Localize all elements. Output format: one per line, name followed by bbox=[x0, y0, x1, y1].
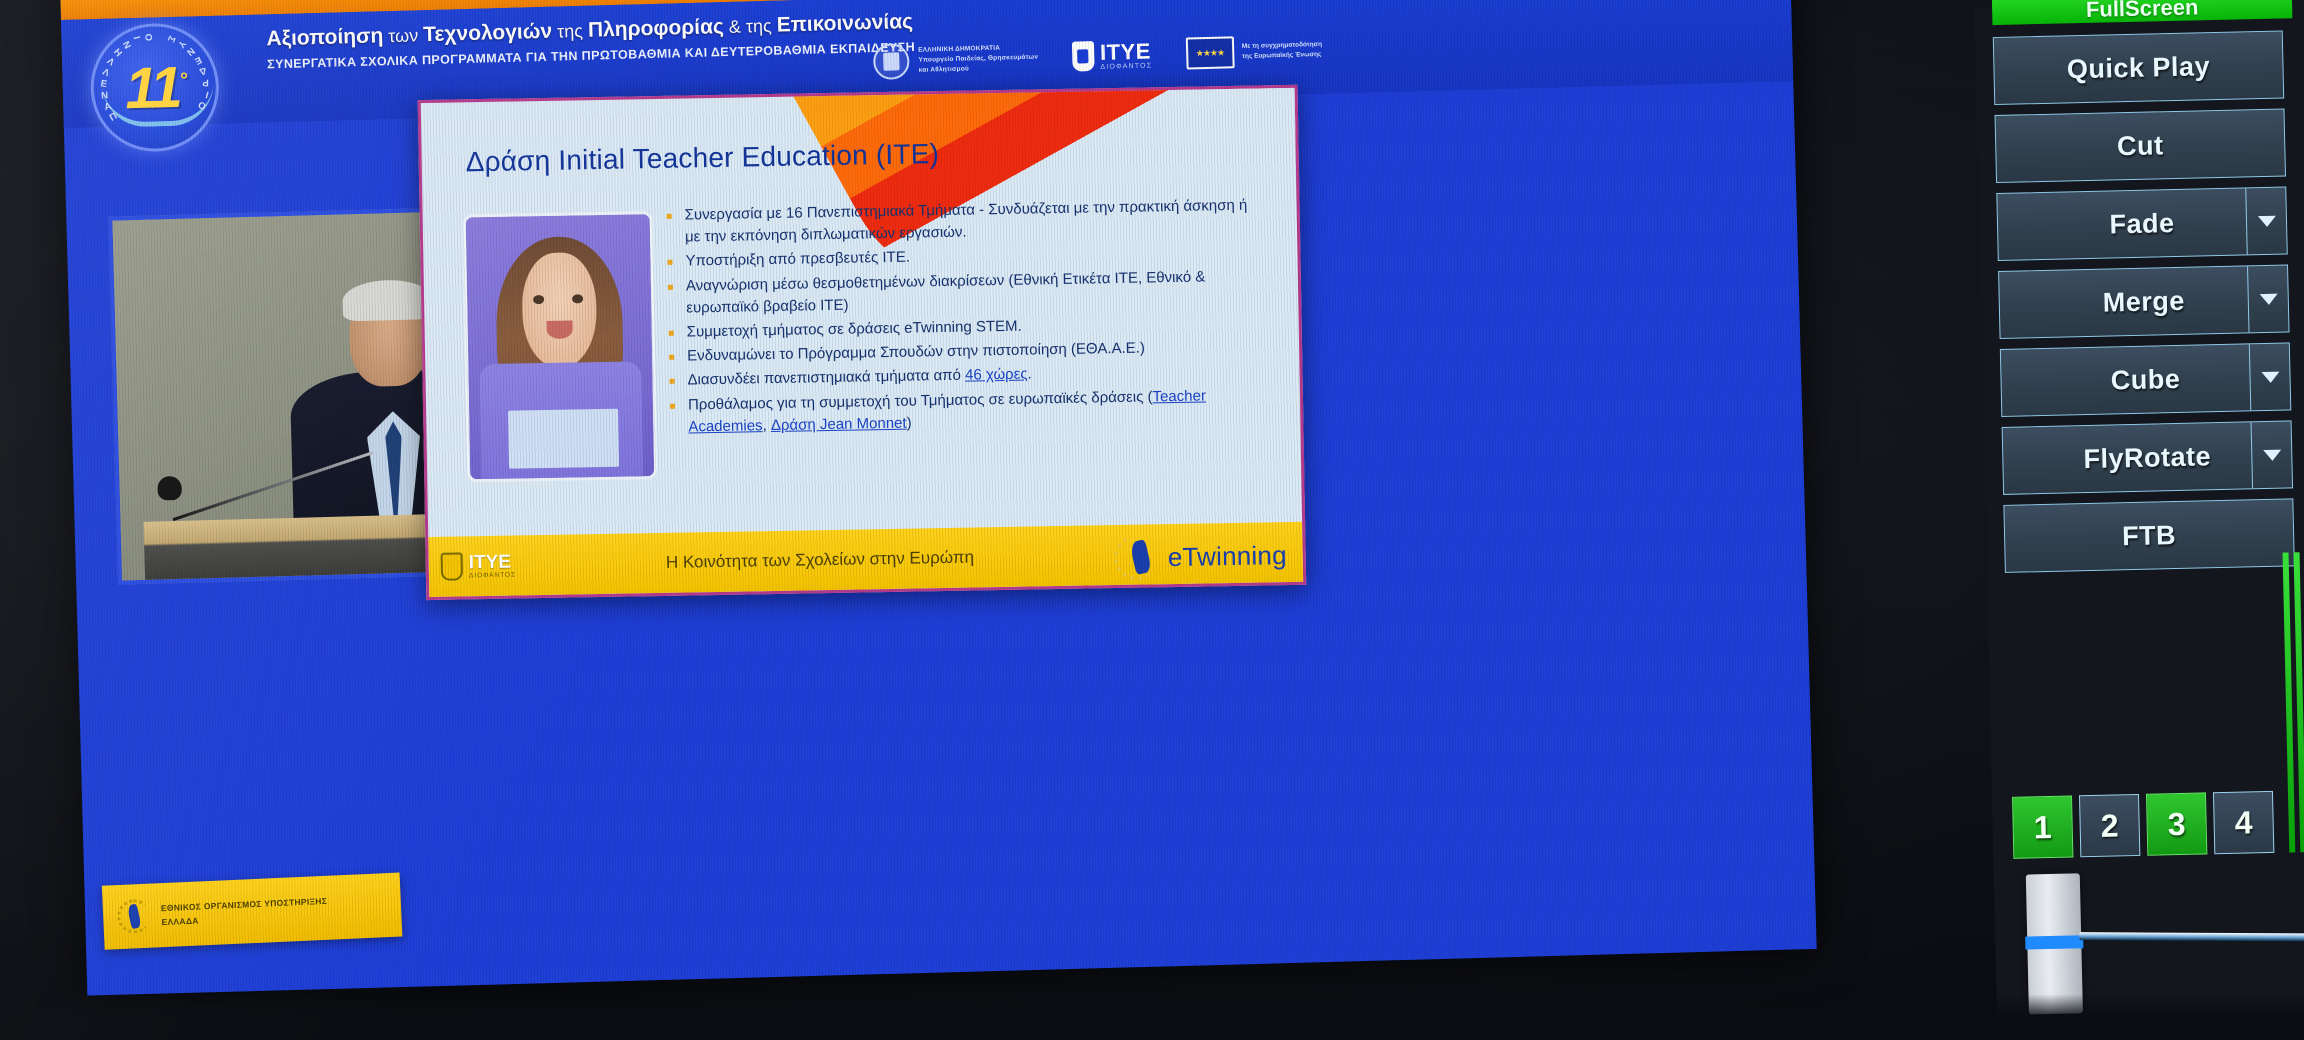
itye-logo-sub: ΔΙΟΦΑΝΤΟΣ bbox=[1100, 62, 1152, 70]
title-part-6: & bbox=[724, 16, 747, 37]
title-part-3: Τεχνολογιών bbox=[423, 20, 553, 46]
fade-label: Fade bbox=[2109, 207, 2175, 239]
eu-logo-text: Με τη συγχρηματοδότηση της Ευρωπαϊκής Έν… bbox=[1242, 40, 1323, 62]
national-support-banner: ΕΘΝΙΚΟΣ ΟΡΓΑΝΙΣΜΟΣ ΥΠΟΣΤΗΡΙΞΗΣ ΕΛΛΑΔΑ bbox=[102, 873, 403, 950]
link-jean-monnet[interactable]: Δράση Jean Monnet bbox=[771, 414, 907, 433]
ftb-label: FTB bbox=[2122, 520, 2177, 552]
presentation-slide: Δράση Initial Teacher Education (ITE) Συ… bbox=[418, 85, 1307, 600]
government-logo: ΕΛΛΗΝΙΚΗ ΔΗΜΟΚΡΑΤΙΑ Υπουργείο Παιδείας, … bbox=[873, 40, 1039, 80]
flyrotate-button[interactable]: FlyRotate bbox=[2002, 420, 2293, 495]
government-seal-icon bbox=[873, 43, 910, 80]
portrait-held-paper bbox=[508, 409, 619, 469]
screen-bezel-shadow bbox=[0, 994, 2304, 1040]
itye-shield-icon bbox=[441, 552, 463, 580]
cut-button[interactable]: Cut bbox=[1995, 108, 2286, 183]
slide-footer-itye-sub: ΔΙΟΦΑΝΤΟΣ bbox=[469, 572, 516, 580]
title-part-4: της bbox=[552, 21, 588, 42]
merge-button[interactable]: Merge bbox=[1998, 264, 2289, 339]
conference-badge: 11° ΠΑΝΕΛΛΗΝΙΟ ΣΥΝΕΔΡΙΟ bbox=[89, 22, 220, 153]
gov-line-3: και Αθλητισμού bbox=[919, 62, 1039, 75]
transition-button-3[interactable]: 3 bbox=[2146, 792, 2207, 855]
level-meter bbox=[2283, 552, 2304, 852]
slide-footer-itye-name: ITYE bbox=[469, 553, 516, 573]
eu-flag-icon: ★★★★ bbox=[1186, 36, 1235, 69]
fullscreen-button[interactable]: FullScreen bbox=[1992, 0, 2293, 25]
government-logo-text: ΕΛΛΗΝΙΚΗ ΔΗΜΟΚΡΑΤΙΑ Υπουργείο Παιδείας, … bbox=[918, 43, 1038, 75]
microphone-capsule-icon bbox=[157, 476, 182, 501]
slide-footer-itye-logo: ITYE ΔΙΟΦΑΝΤΟΣ bbox=[441, 552, 517, 581]
screen-photo: 11° ΠΑΝΕΛΛΗΝΙΟ ΣΥΝΕΔΡΙΟ Αξιοποίηση των Τ… bbox=[0, 0, 2304, 1040]
etwinning-figure-icon bbox=[116, 899, 151, 934]
itye-shield-icon bbox=[1072, 41, 1095, 72]
bullet-7-mid: , bbox=[762, 417, 771, 434]
t-bar-handle[interactable] bbox=[2026, 873, 2083, 1014]
program-output-region: 11° ΠΑΝΕΛΛΗΝΙΟ ΣΥΝΕΔΡΙΟ Αξιοποίηση των Τ… bbox=[60, 0, 1817, 996]
chevron-down-icon[interactable] bbox=[2245, 187, 2286, 254]
title-part-7: της bbox=[746, 16, 777, 37]
itye-logo: ITYE ΔΙΟΦΑΝΤΟΣ bbox=[1072, 39, 1153, 71]
fade-button[interactable]: Fade bbox=[1996, 186, 2287, 261]
cube-label: Cube bbox=[2110, 363, 2180, 396]
quick-play-label: Quick Play bbox=[2067, 51, 2211, 85]
list-item: Συνεργασία με 16 Πανεπιστημιακά Τμήματα … bbox=[667, 194, 1268, 249]
link-46-countries[interactable]: 46 χώρες bbox=[965, 366, 1028, 384]
cut-label: Cut bbox=[2117, 130, 2164, 162]
etwinning-figure-icon bbox=[1113, 534, 1160, 581]
speaker-hair bbox=[342, 279, 433, 322]
list-item: Προθάλαμος για τη συμμετοχή του Τμήματος… bbox=[670, 384, 1271, 439]
list-item: Αναγνώριση μέσω θεσμοθετημένων διακρίσεω… bbox=[668, 265, 1269, 320]
badge-number: 11° bbox=[124, 53, 185, 122]
badge-number-text: 11 bbox=[124, 54, 180, 120]
t-bar-rail[interactable] bbox=[2079, 932, 2304, 941]
badge-degree: ° bbox=[179, 69, 185, 91]
slide-footer-tagline: Η Κοινότητα των Σχολείων στην Ευρώπη bbox=[666, 548, 974, 573]
chevron-down-icon[interactable] bbox=[2251, 421, 2292, 488]
program-output: 11° ΠΑΝΕΛΛΗΝΙΟ ΣΥΝΕΔΡΙΟ Αξιοποίηση των Τ… bbox=[60, 0, 1817, 996]
bullet-6-post: . bbox=[1027, 366, 1031, 383]
transition-button-1[interactable]: 1 bbox=[2012, 795, 2073, 858]
portrait-eye-left bbox=[533, 295, 544, 304]
portrait-eye-right bbox=[572, 294, 583, 303]
t-bar-fader[interactable] bbox=[2012, 862, 2304, 1019]
slide-bullet-list: Συνεργασία με 16 Πανεπιστημιακά Τμήματα … bbox=[667, 194, 1271, 440]
cube-button[interactable]: Cube bbox=[2000, 342, 2291, 417]
title-part-5: Πληροφορίας bbox=[588, 15, 725, 42]
title-part-8: Επικοινωνίας bbox=[776, 10, 913, 37]
itye-logo-name: ITYE bbox=[1100, 40, 1152, 63]
bullet-7-post: ) bbox=[906, 414, 911, 431]
etwinning-wordmark: eTwinning bbox=[1168, 540, 1287, 573]
eu-line-2: της Ευρωπαϊκής Ένωσης bbox=[1242, 50, 1322, 62]
bullet-6-pre: Διασυνδέει πανεπιστημιακά τμήματα από bbox=[687, 367, 965, 389]
merge-label: Merge bbox=[2102, 285, 2185, 318]
flyrotate-label: FlyRotate bbox=[2083, 441, 2211, 475]
slide-portrait-photo bbox=[463, 211, 658, 482]
transition-button-4[interactable]: 4 bbox=[2213, 791, 2274, 854]
title-part-2: των bbox=[383, 25, 423, 46]
eu-logo: ★★★★ Με τη συγχρηματοδότηση της Ευρωπαϊκ… bbox=[1186, 34, 1323, 70]
portrait-face bbox=[522, 252, 598, 369]
transition-number-row: 1 2 3 4 bbox=[2012, 791, 2274, 859]
banner-text: ΕΘΝΙΚΟΣ ΟΡΓΑΝΙΣΜΟΣ ΥΠΟΣΤΗΡΙΞΗΣ ΕΛΛΑΔΑ bbox=[161, 893, 329, 929]
etwinning-logo: eTwinning bbox=[1113, 532, 1287, 581]
ftb-button[interactable]: FTB bbox=[2003, 498, 2294, 573]
transition-button-2[interactable]: 2 bbox=[2079, 794, 2140, 857]
title-part-1: Αξιοποίηση bbox=[266, 24, 383, 50]
quick-play-button[interactable]: Quick Play bbox=[1993, 30, 2284, 105]
transition-button-column: Quick Play Cut Fade Merge Cube FlyRotate bbox=[1993, 30, 2295, 572]
chevron-down-icon[interactable] bbox=[2247, 265, 2288, 332]
bullet-7-pre: Προθάλαμος για τη συμμετοχή του Τμήματος… bbox=[688, 388, 1153, 413]
switcher-control-panel: FullScreen Quick Play Cut Fade Merge Cub… bbox=[1974, 0, 2304, 1040]
chevron-down-icon[interactable] bbox=[2249, 343, 2290, 410]
